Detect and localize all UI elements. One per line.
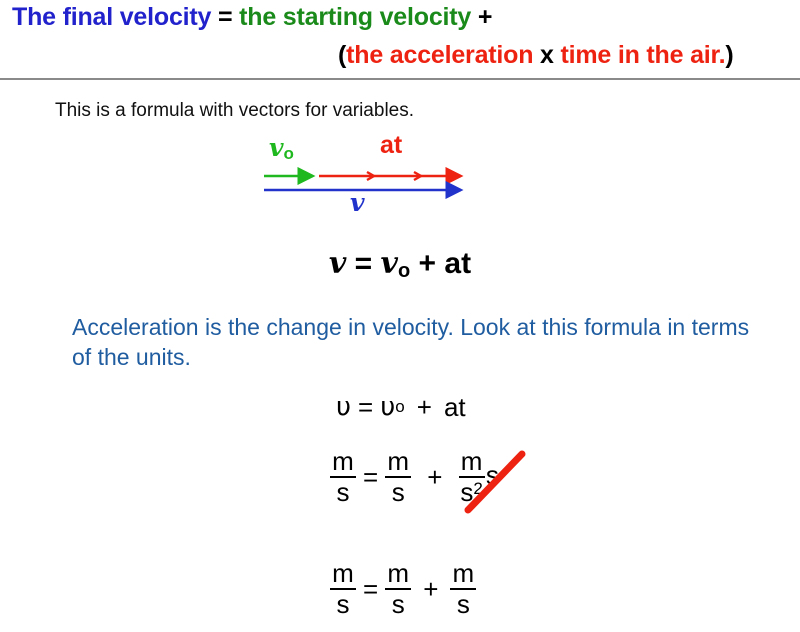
title-times-sign: x: [533, 41, 560, 69]
units-row2-lhs-fraction: m s: [330, 560, 356, 618]
vector-label-v0: vo: [269, 135, 294, 162]
units-row2-lhs-denominator: s: [335, 591, 352, 618]
units-row2-rhs-denominator: s: [455, 591, 472, 618]
units-row2-mid-denominator: s: [390, 591, 407, 618]
title-open-paren: (: [338, 41, 346, 69]
units-row1-rhs-numerator: m: [459, 448, 485, 475]
units-row1-mid-numerator: m: [385, 448, 411, 475]
units-row1-lhs-fraction: m s: [330, 448, 356, 506]
title-acceleration: the acceleration: [346, 41, 533, 69]
title-line-1: The final velocity = the starting veloci…: [12, 3, 492, 32]
units-row2-mid-numerator: m: [385, 560, 411, 587]
units-symbolic-plus: +: [405, 392, 444, 423]
main-formula-v0-subscript: o: [398, 260, 410, 282]
main-formula-v: v: [329, 246, 346, 281]
units-row1-lhs-numerator: m: [330, 448, 356, 475]
units-row-2: m s = m s + m s: [330, 546, 610, 632]
title-starting-velocity: the starting velocity: [239, 3, 471, 31]
title-final-velocity: The final velocity: [12, 3, 211, 31]
vector-label-v0-symbol: v: [269, 133, 284, 162]
header-divider: [0, 78, 800, 80]
vector-diagram: vo at v: [255, 133, 495, 228]
vector-arrows-svg: [255, 164, 485, 204]
acceleration-paragraph: Acceleration is the change in velocity. …: [72, 312, 752, 373]
units-row1-plus: +: [411, 462, 458, 493]
units-row1-rhs-fraction: m s2: [458, 448, 484, 506]
main-formula-equals: =: [346, 247, 380, 280]
units-symbolic-equals: =: [351, 392, 380, 423]
units-row1-cancel-group: m s2 s: [458, 448, 498, 506]
title-line-2: (the acceleration x time in the air.): [338, 41, 734, 70]
units-symbolic-v0: υ: [380, 392, 395, 422]
title-plus-sign: +: [471, 3, 492, 31]
main-formula-plus-at: + at: [410, 247, 471, 280]
units-row1-lhs-denominator: s: [335, 479, 352, 506]
title-close-paren: ): [725, 41, 733, 69]
units-symbolic-at: at: [444, 392, 466, 423]
units-row2-rhs-fraction: m s: [450, 560, 476, 618]
main-formula-v0: v: [381, 246, 398, 281]
units-row2-rhs-numerator: m: [451, 560, 477, 587]
units-symbolic-v: υ: [336, 392, 351, 422]
units-row1-rhs-denominator: s2: [458, 479, 484, 506]
main-formula: v = vo + at: [0, 246, 800, 283]
units-row1-equals: =: [356, 462, 385, 493]
vector-label-v0-subscript: o: [284, 144, 294, 163]
units-row1-rhs-denominator-base: s: [460, 477, 473, 507]
units-row2-lhs-numerator: m: [330, 560, 356, 587]
units-row-1: m s = m s + m s2 s: [330, 434, 610, 520]
units-symbolic-row: υ = υo + at: [330, 390, 610, 424]
units-row1-trailing-s: s: [486, 460, 499, 491]
vector-label-at: at: [380, 133, 402, 158]
title-time-in-air: time in the air.: [561, 41, 726, 69]
slide-header: The final velocity = the starting veloci…: [0, 0, 800, 79]
units-row2-mid-fraction: m s: [385, 560, 411, 618]
title-equals-sign: =: [211, 3, 239, 31]
units-row1-rhs-denominator-exponent: 2: [473, 479, 482, 498]
units-symbolic-v0-subscript: o: [395, 397, 404, 417]
intro-text: This is a formula with vectors for varia…: [55, 100, 414, 122]
units-block: υ = υo + at m s = m s + m s2 s: [330, 390, 610, 632]
units-row1-mid-denominator: s: [390, 479, 407, 506]
units-row1-mid-fraction: m s: [385, 448, 411, 506]
